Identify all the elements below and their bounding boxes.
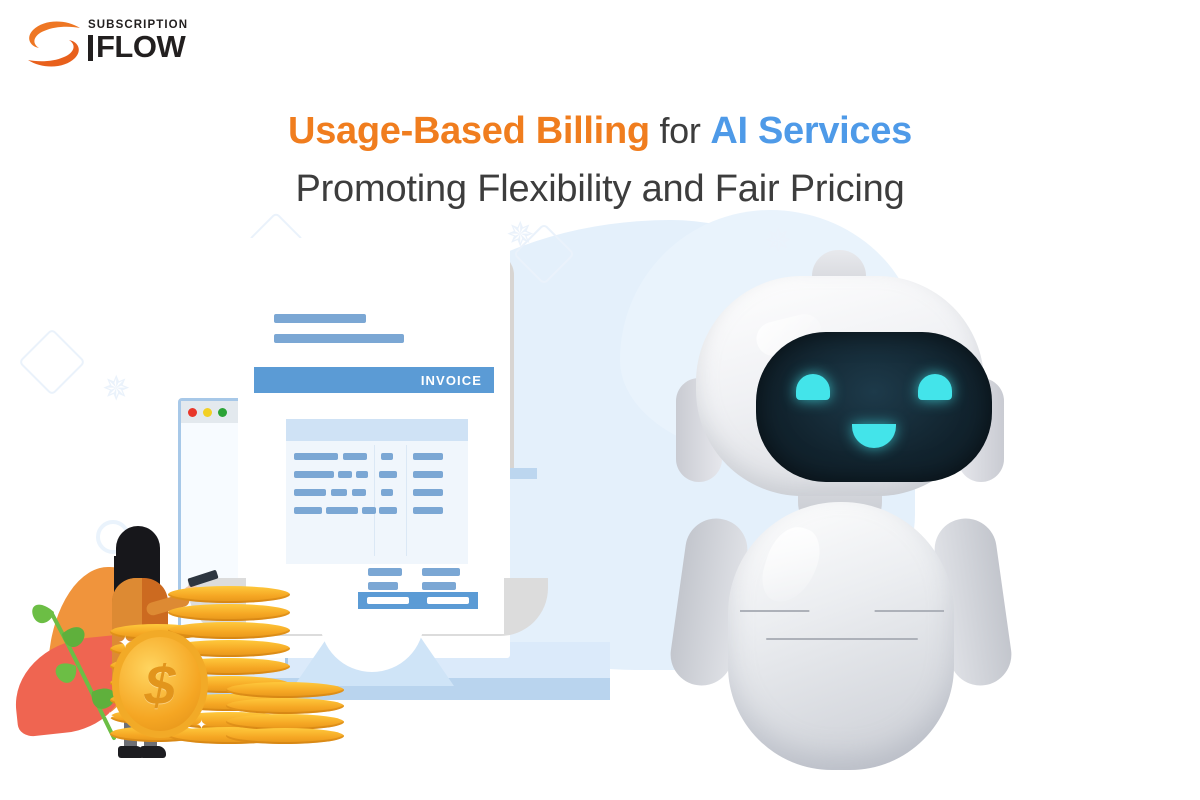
hero-banner: SUBSCRIPTION FLOW Usage-Based Billing fo… xyxy=(0,0,1200,800)
invoice-cell-bar xyxy=(413,489,443,496)
browser-maximize-dot-icon[interactable] xyxy=(218,408,227,417)
invoice-cell-bar xyxy=(294,471,334,478)
ai-robot-mascot xyxy=(662,250,1018,790)
invoice-placeholder-line xyxy=(274,334,404,343)
invoice-cell-bar xyxy=(331,489,347,496)
invoice-cell-bar xyxy=(381,489,393,496)
sparkle-icon: ✦ xyxy=(118,634,132,651)
invoice-table-header xyxy=(286,419,468,441)
sparkle-icon: ✦ xyxy=(104,708,115,725)
invoice-cell-bar xyxy=(356,471,368,478)
invoice-column-divider xyxy=(374,445,375,556)
sparkle-burst-icon: ✵ xyxy=(102,372,131,406)
brand-logo[interactable]: SUBSCRIPTION FLOW xyxy=(22,14,252,76)
coin xyxy=(226,682,344,698)
coin xyxy=(168,586,290,603)
robot-eye-right xyxy=(918,374,952,400)
invoice-column-divider xyxy=(406,445,407,556)
browser-close-dot-icon[interactable] xyxy=(188,408,197,417)
invoice-cell-bar xyxy=(294,507,322,514)
coin-stack-right xyxy=(226,682,344,744)
subscriptionflow-swoosh-icon xyxy=(22,18,86,70)
invoice-cell-bar xyxy=(294,489,326,496)
coin xyxy=(226,728,344,744)
title-connector: for xyxy=(650,110,711,151)
invoice-table xyxy=(286,419,468,564)
page-subtitle: Promoting Flexibility and Fair Pricing xyxy=(0,164,1200,214)
robot-visor-face xyxy=(756,332,992,482)
invoice-cell-bar xyxy=(413,453,443,460)
coin xyxy=(168,622,290,639)
hero-illustration: ✵ ✵ ✵ INVOICE xyxy=(0,210,1200,800)
sparkle-icon: ✦ xyxy=(196,716,207,733)
invoice-cell-bar xyxy=(343,453,367,460)
invoice-total-bar xyxy=(422,568,460,576)
sparkle-burst-icon: ✵ xyxy=(506,218,535,252)
browser-minimize-dot-icon[interactable] xyxy=(203,408,212,417)
robot-body-seam-lower xyxy=(766,638,918,640)
invoice-footer-bar xyxy=(358,592,478,609)
invoice-header-label: INVOICE xyxy=(421,373,482,388)
brand-divider-bar xyxy=(88,35,93,61)
invoice-total-bar xyxy=(368,568,402,576)
invoice-footer-field xyxy=(367,597,409,604)
invoice-header-bar: INVOICE xyxy=(254,367,494,393)
invoice-cell-bar xyxy=(352,489,366,496)
invoice-total-bar xyxy=(368,582,398,590)
shoe-right xyxy=(140,746,166,758)
invoice-total-bar xyxy=(422,582,456,590)
title-part-usage-based-billing: Usage-Based Billing xyxy=(288,110,650,152)
coin xyxy=(168,604,290,621)
dollar-symbol: $ xyxy=(144,652,175,717)
invoice-cell-bar xyxy=(381,453,393,460)
title-part-ai-services: AI Services xyxy=(710,110,912,152)
invoice-cell-bar xyxy=(413,471,443,478)
invoice-cell-bar xyxy=(294,453,338,460)
invoice-cell-bar xyxy=(379,507,397,514)
robot-eye-left xyxy=(796,374,830,400)
invoice-placeholder-line xyxy=(274,314,366,323)
invoice-cell-bar xyxy=(326,507,358,514)
diamond-outline-icon xyxy=(18,328,86,396)
invoice-cell-bar xyxy=(362,507,376,514)
brand-line-2: FLOW xyxy=(96,31,185,62)
page-title: Usage-Based Billing for AI Services xyxy=(0,108,1200,154)
invoice-cell-bar xyxy=(338,471,352,478)
invoice-document: INVOICE xyxy=(246,262,504,634)
robot-head xyxy=(696,276,984,496)
invoice-cell-bar xyxy=(413,507,443,514)
robot-smile xyxy=(852,424,896,448)
invoice-cell-bar xyxy=(379,471,397,478)
invoice-footer-field xyxy=(427,597,469,604)
coin xyxy=(226,698,344,714)
